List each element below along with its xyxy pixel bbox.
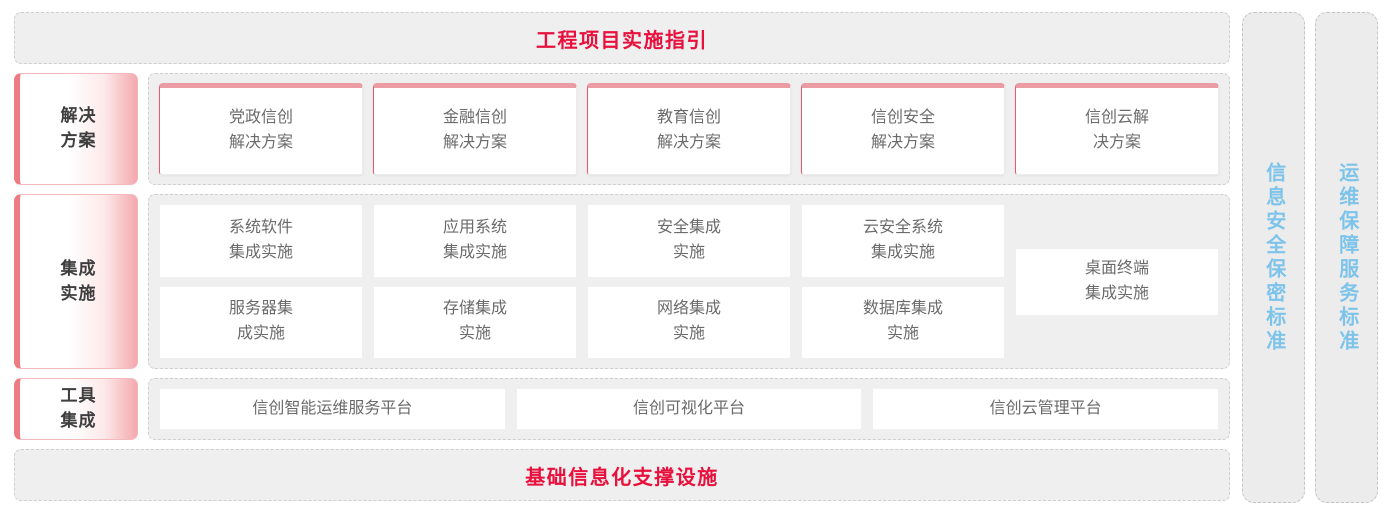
integration-grid: 系统软件 集成实施 服务器集 成实施 应用系统 集成实施 存储集成 实施 xyxy=(159,204,1219,359)
integration-card[interactable]: 网络集成 实施 xyxy=(587,286,791,360)
integration-card[interactable]: 服务器集 成实施 xyxy=(159,286,363,360)
side-panel-security-standard[interactable]: 信息安全保密标准 xyxy=(1242,12,1305,503)
integration-card-label: 安全集成 实施 xyxy=(657,216,721,266)
side-panel-security-standard-label: 信息安全保密标准 xyxy=(1259,162,1287,354)
side-panels-column: 信息安全保密标准 运维保障服务标准 xyxy=(1240,0,1390,515)
integration-card-label: 服务器集 成实施 xyxy=(229,297,293,347)
integration-column: 安全集成 实施 网络集成 实施 xyxy=(587,204,791,359)
solution-card[interactable]: 信创安全 解决方案 xyxy=(801,83,1005,175)
integration-column-tall: 桌面终端 集成实施 xyxy=(1015,204,1219,359)
tool-card-label: 信创云管理平台 xyxy=(990,397,1102,422)
integration-card-label: 网络集成 实施 xyxy=(657,297,721,347)
solution-card[interactable]: 党政信创 解决方案 xyxy=(159,83,363,175)
tier-label-solutions: 解决 方案 xyxy=(14,73,138,185)
solution-card-label: 金融信创 解决方案 xyxy=(443,106,507,156)
tier-label-tools-text: 工具 集成 xyxy=(61,384,97,433)
integration-card[interactable]: 应用系统 集成实施 xyxy=(373,204,577,278)
tier-label-integration: 集成 实施 xyxy=(14,194,138,369)
integration-card[interactable]: 系统软件 集成实施 xyxy=(159,204,363,278)
integration-card[interactable]: 存储集成 实施 xyxy=(373,286,577,360)
tier-solutions: 解决 方案 党政信创 解决方案 金融信创 解决方案 教育信创 解决方案 信创安全… xyxy=(14,73,1230,185)
tier-panel-integration: 系统软件 集成实施 服务器集 成实施 应用系统 集成实施 存储集成 实施 xyxy=(148,194,1230,369)
solution-card-label: 党政信创 解决方案 xyxy=(229,106,293,156)
solution-card-label: 信创安全 解决方案 xyxy=(871,106,935,156)
bottom-banner: 基础信息化支撑设施 xyxy=(14,449,1230,501)
integration-card-label: 应用系统 集成实施 xyxy=(443,216,507,266)
side-panel-ops-standard-label: 运维保障服务标准 xyxy=(1332,162,1360,354)
tool-card-label: 信创智能运维服务平台 xyxy=(252,397,412,422)
tier-label-integration-text: 集成 实施 xyxy=(61,257,97,306)
tier-integration: 集成 实施 系统软件 集成实施 服务器集 成实施 应用系统 集成实施 xyxy=(14,194,1230,369)
integration-card[interactable]: 数据库集成 实施 xyxy=(801,286,1005,360)
integration-card-label: 系统软件 集成实施 xyxy=(229,216,293,266)
solution-card[interactable]: 教育信创 解决方案 xyxy=(587,83,791,175)
tool-card[interactable]: 信创云管理平台 xyxy=(872,388,1219,430)
solution-card-label: 教育信创 解决方案 xyxy=(657,106,721,156)
integration-column: 应用系统 集成实施 存储集成 实施 xyxy=(373,204,577,359)
tier-panel-tools: 信创智能运维服务平台 信创可视化平台 信创云管理平台 xyxy=(148,378,1230,440)
integration-card-label: 桌面终端 集成实施 xyxy=(1085,257,1149,307)
side-panel-ops-standard[interactable]: 运维保障服务标准 xyxy=(1315,12,1378,503)
bottom-banner-label: 基础信息化支撑设施 xyxy=(525,461,719,490)
solution-card[interactable]: 金融信创 解决方案 xyxy=(373,83,577,175)
tool-card[interactable]: 信创可视化平台 xyxy=(516,388,863,430)
solution-card-label: 信创云解 决方案 xyxy=(1085,106,1149,156)
integration-column: 系统软件 集成实施 服务器集 成实施 xyxy=(159,204,363,359)
integration-card[interactable]: 云安全系统 集成实施 xyxy=(801,204,1005,278)
top-banner: 工程项目实施指引 xyxy=(14,12,1230,64)
integration-card-label: 存储集成 实施 xyxy=(443,297,507,347)
tier-label-tools: 工具 集成 xyxy=(14,378,138,440)
top-banner-label: 工程项目实施指引 xyxy=(536,24,708,53)
tier-panel-solutions: 党政信创 解决方案 金融信创 解决方案 教育信创 解决方案 信创安全 解决方案 … xyxy=(148,73,1230,185)
tier-tools: 工具 集成 信创智能运维服务平台 信创可视化平台 信创云管理平台 xyxy=(14,378,1230,440)
integration-column: 云安全系统 集成实施 数据库集成 实施 xyxy=(801,204,1005,359)
tier-label-solutions-text: 解决 方案 xyxy=(61,104,97,153)
tool-card[interactable]: 信创智能运维服务平台 xyxy=(159,388,506,430)
integration-card[interactable]: 安全集成 实施 xyxy=(587,204,791,278)
main-column: 工程项目实施指引 解决 方案 党政信创 解决方案 金融信创 解决方案 教育信创 … xyxy=(0,0,1240,515)
integration-card-desktop-terminal[interactable]: 桌面终端 集成实施 xyxy=(1015,248,1219,316)
solution-card[interactable]: 信创云解 决方案 xyxy=(1015,83,1219,175)
integration-card-label: 数据库集成 实施 xyxy=(863,297,943,347)
integration-card-label: 云安全系统 集成实施 xyxy=(863,216,943,266)
tool-card-label: 信创可视化平台 xyxy=(633,397,745,422)
diagram-root: 工程项目实施指引 解决 方案 党政信创 解决方案 金融信创 解决方案 教育信创 … xyxy=(0,0,1390,515)
